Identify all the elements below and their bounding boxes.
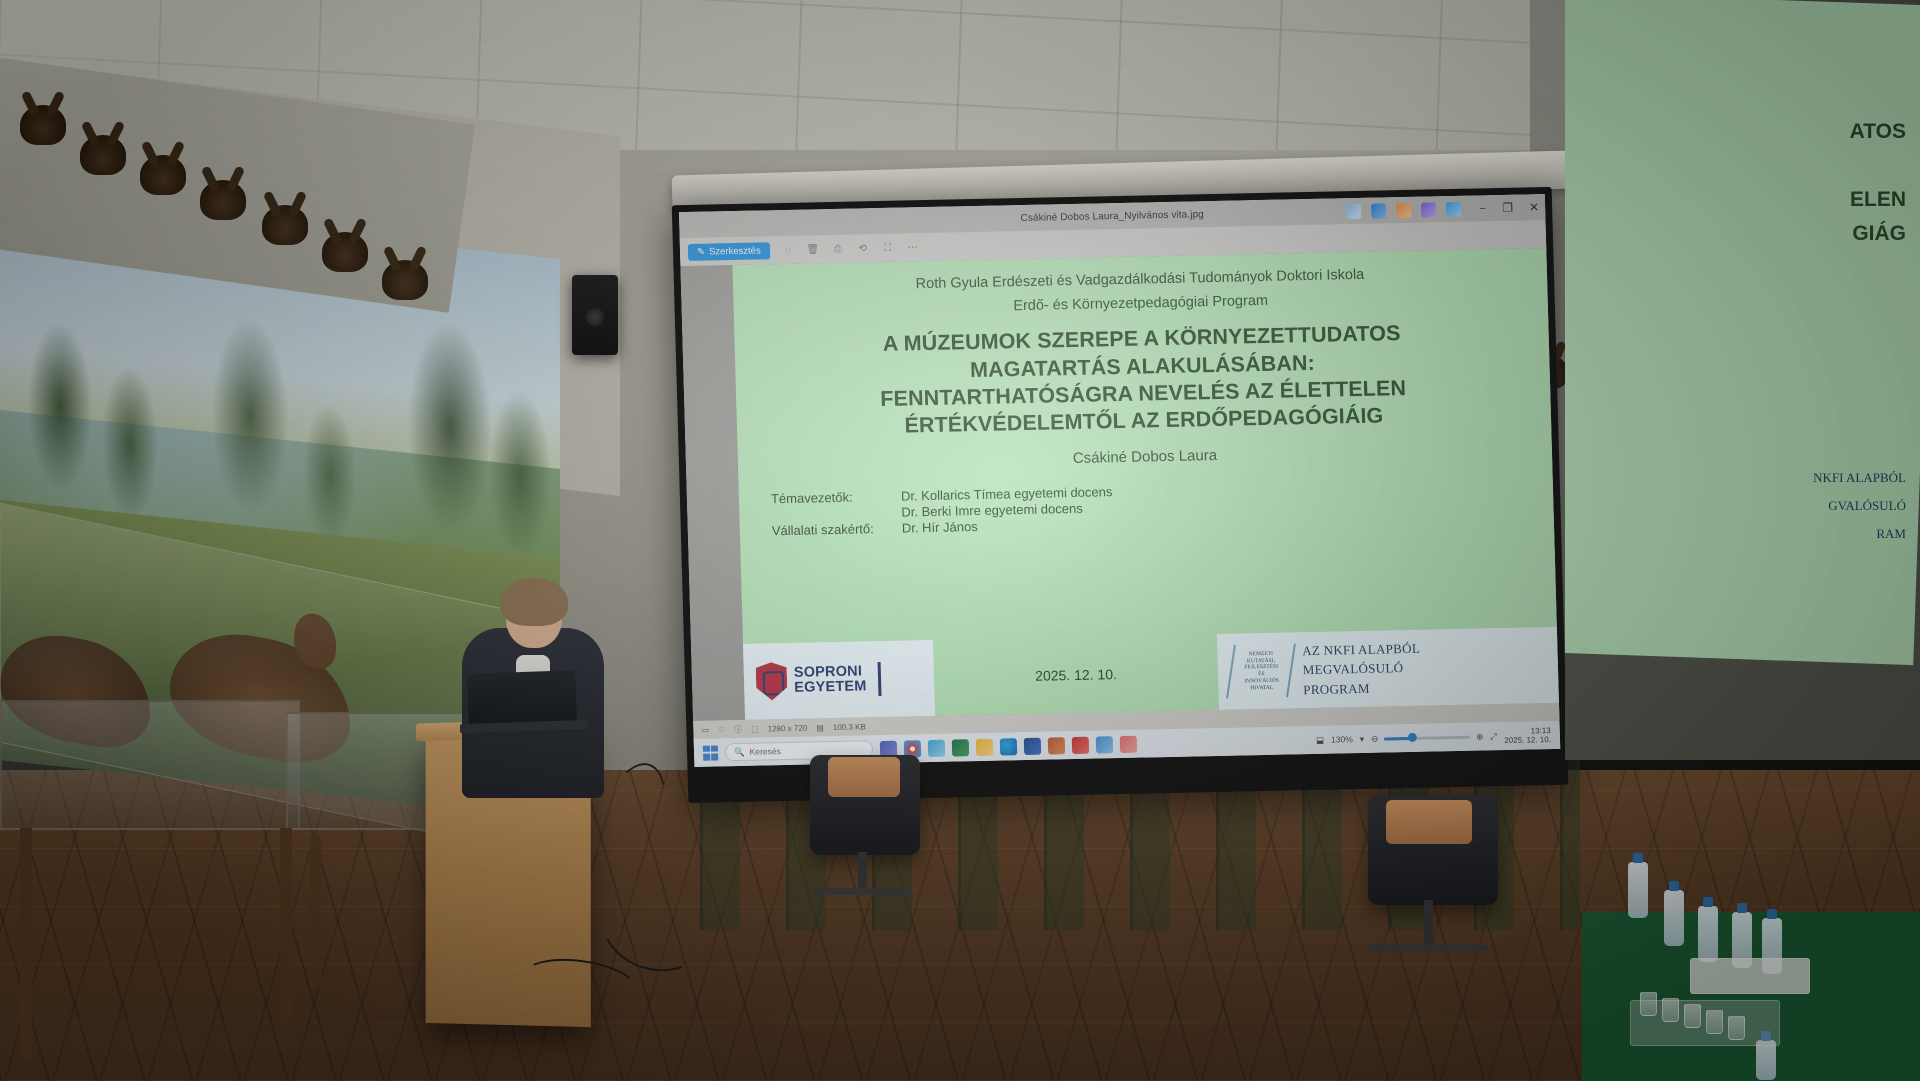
start-tile [703, 753, 710, 760]
screenshot-root: Csákiné Dobos Laura_Nyilvános vita.jpg −… [0, 0, 1920, 1081]
presentation-slide: Roth Gyula Erdészeti és Vadgazdálkodási … [732, 248, 1559, 720]
edit-icon: ✎ [697, 246, 705, 257]
photo-viewer-window: Csákiné Dobos Laura_Nyilvános vita.jpg −… [679, 194, 1560, 767]
water-bottle [1628, 862, 1648, 918]
nkfi-logo-block: NEMZETI KUTATÁSI, FEJLESZTÉSI ÉS INNOVÁC… [1217, 627, 1559, 710]
antler-trophy [382, 260, 428, 300]
nkfi-program-line2: MEGVALÓSULÓ [1302, 658, 1420, 680]
dimensions-icon: ⬚ [751, 724, 759, 733]
reflection-line-3: GIÁG [1852, 222, 1906, 246]
search-icon: 🔍 [734, 746, 745, 757]
magnify-icon[interactable]: ◌ [781, 243, 795, 257]
close-button[interactable]: ✕ [1529, 200, 1539, 214]
university-crest-icon [756, 662, 788, 701]
nkfi-divider-left [1226, 645, 1236, 699]
edge-icon[interactable] [1000, 738, 1017, 755]
taskbar-clock[interactable]: 13:13 2025. 12. 10. [1504, 726, 1551, 745]
presenter-laptop [467, 670, 577, 726]
paint-icon[interactable] [1096, 736, 1113, 753]
app-icon-2[interactable] [1371, 203, 1386, 218]
reflection-program-2: GVALÓSULÓ [1828, 498, 1906, 514]
reflection-surface [1565, 0, 1920, 665]
university-line2: EGYETEM [794, 679, 867, 695]
comment-icon[interactable]: ▭ [701, 725, 709, 734]
app-icon-1[interactable] [1346, 203, 1361, 218]
reflection-program-1: NKFI ALAPBÓL [1813, 470, 1906, 486]
drinking-glass [1706, 1010, 1723, 1034]
minimize-button[interactable]: − [1479, 201, 1486, 215]
taskbar-right-zone: ⬓ 130% ▾ ⊖ ⊕ ⤢ 13:1 [1316, 726, 1551, 749]
delete-icon[interactable]: 🗑 [806, 242, 820, 256]
title-bar-app-icons [1346, 201, 1461, 218]
reflection-program-3: RAM [1876, 526, 1906, 542]
zoom-in-icon[interactable]: ⊕ [1476, 731, 1483, 742]
app-red-icon[interactable] [1120, 735, 1137, 752]
clock-date: 2025. 12. 10. [1504, 735, 1551, 745]
zoom-slider-thumb[interactable] [1408, 733, 1417, 742]
antler-trophy [262, 205, 308, 245]
slide-reflection-panel: ATOS ELEN GIÁG NKFI ALAPBÓL GVALÓSULÓ RA… [1565, 0, 1920, 760]
image-filesize: 100.3 KB [833, 722, 866, 732]
zoom-level[interactable]: 130% [1331, 734, 1353, 744]
zoom-slider-track[interactable] [1384, 735, 1470, 740]
cabinet-leg [310, 836, 321, 986]
author-name: Csákiné Dobos Laura [764, 440, 1526, 473]
more-icon[interactable]: ⋯ [906, 240, 920, 254]
image-dimensions: 1280 x 720 [768, 723, 808, 733]
drinking-glass [1662, 998, 1679, 1022]
fullscreen-icon[interactable]: ⤢ [1490, 731, 1497, 742]
nkfi-program-line3: PROGRAM [1303, 677, 1421, 699]
zoom-slider-control[interactable]: ⊖ ⊕ [1371, 731, 1484, 744]
edit-button[interactable]: ✎ Szerkesztés [688, 242, 770, 261]
nkfi-org-line1: NEMZETI KUTATÁSI, FEJLESZTÉSI [1242, 650, 1281, 671]
supervisors-label: Témavezetők: [771, 488, 902, 522]
start-tile [703, 745, 710, 752]
chair-cushion-left [828, 757, 900, 797]
reflection-line-2: ELEN [1850, 188, 1906, 212]
cabinet-leg [20, 828, 32, 1058]
chair-base-left [812, 888, 912, 895]
zoom-slider-fill [1384, 736, 1410, 740]
chair-base-right [1368, 944, 1488, 951]
filesize-icon: ▤ [816, 723, 824, 732]
start-tile [711, 745, 718, 752]
antler-trophy [322, 232, 368, 272]
image-viewport: Roth Gyula Erdészeti és Vadgazdálkodási … [680, 248, 1559, 721]
chevron-down-icon[interactable]: ▾ [1360, 733, 1365, 744]
water-bottle [1698, 906, 1718, 962]
edit-button-label: Szerkesztés [709, 245, 761, 257]
hungary-coat-of-arms-icon: NEMZETI KUTATÁSI, FEJLESZTÉSI ÉS INNOVÁC… [1242, 650, 1281, 691]
slide-title: A MÚZEUMOK SZEREPE A KÖRNYEZETTUDATOS MA… [760, 318, 1525, 442]
word-icon[interactable] [1024, 737, 1041, 754]
presenter-hair [500, 578, 568, 626]
soproni-egyetem-logo: SOPRONI EGYETEM [743, 640, 935, 720]
zoom-out-icon[interactable]: ⊖ [1371, 733, 1378, 744]
powerpoint-icon[interactable] [1048, 737, 1065, 754]
wall-speaker-left [572, 275, 618, 355]
nkfi-program-text: AZ NKFI ALAPBÓL MEGVALÓSULÓ PROGRAM [1302, 638, 1422, 699]
projection-screen: Csákiné Dobos Laura_Nyilvános vita.jpg −… [672, 187, 1569, 803]
projection-surface: Csákiné Dobos Laura_Nyilvános vita.jpg −… [679, 194, 1560, 767]
university-name: SOPRONI EGYETEM [794, 665, 867, 696]
app-icon-5[interactable] [1446, 201, 1461, 216]
drinking-glass [1640, 992, 1657, 1016]
drinking-glass [1684, 1004, 1701, 1028]
antler-trophy [140, 155, 186, 195]
chair-stem-right [1424, 900, 1433, 948]
display-cabinet [0, 700, 300, 830]
antler-trophy [80, 135, 126, 175]
favorite-icon[interactable]: ♡ [718, 725, 725, 734]
crop-icon[interactable]: ⛶ [881, 241, 895, 255]
fit-to-window-icon[interactable]: ⬓ [1316, 734, 1324, 745]
print-icon[interactable]: ⎙ [831, 242, 845, 256]
water-bottle [1756, 1040, 1776, 1080]
info-icon[interactable]: ⓘ [734, 723, 742, 734]
nkfi-program-line1: AZ NKFI ALAPBÓL [1302, 638, 1420, 660]
company-expert-label: Vállalati szakértő: [772, 520, 902, 538]
antler-trophy [200, 180, 246, 220]
excel-icon[interactable] [952, 739, 969, 756]
photos-icon[interactable] [928, 739, 945, 756]
reflection-line-1: ATOS [1850, 120, 1906, 144]
explorer-icon[interactable] [976, 738, 993, 755]
presentation-date: 2025. 12. 10. [933, 634, 1219, 716]
nkfi-org-name: NEMZETI KUTATÁSI, FEJLESZTÉSI ÉS INNOVÁC… [1242, 650, 1281, 691]
start-tile [711, 753, 718, 760]
supervisors-block: Témavezetők: Dr. Kollarics Tímea egyetem… [765, 475, 1528, 538]
antler-trophy [20, 105, 66, 145]
windows-start-icon[interactable] [703, 745, 718, 760]
chair-cushion-right [1386, 800, 1472, 844]
logo-divider [878, 662, 882, 696]
nkfi-org-line2: ÉS INNOVÁCIÓS HIVATAL [1242, 671, 1281, 692]
acrobat-icon[interactable] [1072, 736, 1089, 753]
window-controls: − ❐ ✕ [1479, 200, 1539, 215]
app-icon-4[interactable] [1421, 202, 1436, 217]
cabinet-leg [280, 828, 292, 1018]
restore-button[interactable]: ❐ [1502, 201, 1513, 215]
water-bottle [1664, 890, 1684, 946]
search-placeholder: Keresés [749, 746, 780, 757]
drinking-glass [1728, 1016, 1745, 1040]
document-tray [1690, 958, 1810, 994]
rotate-icon[interactable]: ⟲ [856, 241, 870, 255]
app-icon-3[interactable] [1396, 202, 1411, 217]
nkfi-divider-right [1286, 644, 1296, 698]
